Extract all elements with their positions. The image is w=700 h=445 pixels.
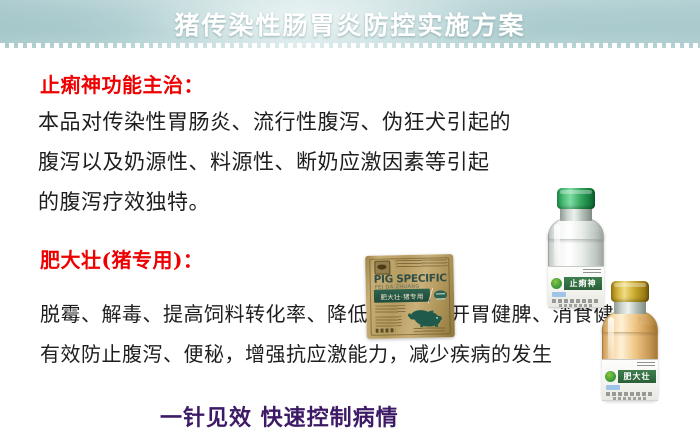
feed-bag-body: PIG SPECIFIC FEI DA ZHUANG 肥大壮·猪专用 xyxy=(365,254,455,339)
vial-amber-fineprint xyxy=(606,392,653,396)
product-image-vial-feidazhuang: 肥大壮 xyxy=(594,281,666,403)
section1-line-1: 本品对传染性胃肠炎、流行性腹泻、伪狂犬引起的 xyxy=(38,106,511,136)
vial-amber-name-strip: 肥大壮 xyxy=(618,370,656,383)
section1-line-3: 的腹泻疗效独特。 xyxy=(38,186,210,216)
vial-amber-product-name: 肥大壮 xyxy=(624,371,651,382)
section-heading-feidazhuang: 肥大壮(猪专用)： xyxy=(40,244,203,273)
vial-amber-label: 肥大壮 xyxy=(602,359,658,401)
vial-white-fineprint xyxy=(552,299,599,303)
page-title: 猪传染性肠胃炎防控实施方案 xyxy=(0,6,700,42)
feed-bag-label-text: 肥大壮·猪专用 xyxy=(380,290,423,301)
vial-amber-label-topline xyxy=(637,362,655,368)
feed-bag-microtext-a xyxy=(375,305,405,314)
vial-amber-neck xyxy=(614,300,646,314)
feed-bag-label-strip: 肥大壮·猪专用 xyxy=(374,289,430,303)
vial-white-neck xyxy=(560,207,592,221)
pig-silhouette-icon xyxy=(406,306,444,328)
feed-bag-manufacturer-text xyxy=(414,327,445,332)
feed-bag-top-microtext xyxy=(395,259,447,267)
header-banner: 猪传染性肠胃炎防控实施方案 xyxy=(0,0,700,48)
vial-amber-spec-chip xyxy=(606,385,620,390)
section1-line-2: 腹泻以及奶源性、料源性、断奶应激因素等引起 xyxy=(38,146,490,176)
feed-bag-weight-text xyxy=(376,328,396,332)
vial-white-certification-icon xyxy=(551,278,562,289)
vial-white-shoulder xyxy=(548,218,604,240)
vial-amber-manufacturer-line xyxy=(613,397,647,400)
vial-white-product-name: 止痢神 xyxy=(570,278,597,289)
vial-white-manufacturer-line xyxy=(559,304,593,307)
product-image-feed-bag: PIG SPECIFIC FEI DA ZHUANG 肥大壮·猪专用 xyxy=(365,254,455,339)
section-heading-zhilishen: 止痢神功能主治： xyxy=(40,69,204,98)
vial-white-spec-chip xyxy=(552,292,566,297)
slide: 猪传染性肠胃炎防控实施方案 止痢神功能主治： 本品对传染性胃肠炎、流行性腹泻、伪… xyxy=(0,0,700,445)
vial-amber-shoulder xyxy=(602,311,658,333)
vial-white-cap-green xyxy=(557,188,595,209)
vial-amber-certification-icon xyxy=(605,371,616,382)
content-area: 止痢神功能主治： 本品对传染性胃肠炎、流行性腹泻、伪狂犬引起的 腹泻以及奶源性、… xyxy=(0,48,700,445)
vial-amber-cap-gold xyxy=(611,281,649,302)
vial-white-label-topline xyxy=(583,269,601,275)
feed-bag-microtext-b xyxy=(375,316,401,327)
bottom-tagline: 一针见效 快速控制病情 xyxy=(160,400,399,432)
section2-line-2: 有效防止腹泻、便秘，增强抗应激能力，减少疾病的发生 xyxy=(40,338,553,367)
